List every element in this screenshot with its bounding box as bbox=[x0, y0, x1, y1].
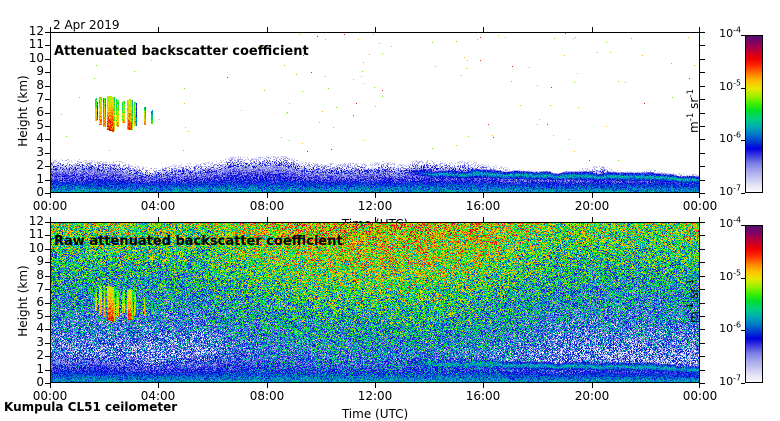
panel2-x-tick-label: 16:00 bbox=[453, 389, 513, 403]
panel2-colorbar-tick-label: 10-5 bbox=[701, 270, 741, 283]
panel1-x-tick-top bbox=[483, 27, 484, 32]
panel2-y-tick bbox=[45, 276, 50, 277]
panel1-y-tick-right bbox=[700, 166, 705, 167]
panel2-y-tick-right bbox=[700, 343, 705, 344]
panel2-y-tick-label: 10 bbox=[16, 241, 44, 255]
panel1-x-tick bbox=[699, 193, 700, 198]
panel1-y-tick-label: 10 bbox=[16, 51, 44, 65]
panel1-y-tick bbox=[45, 166, 50, 167]
panel1-y-tick-label: 1 bbox=[16, 172, 44, 186]
panel2-colorbar-tick bbox=[741, 383, 745, 384]
panel1-y-tick bbox=[45, 45, 50, 46]
panel2-x-axis-label: Time (UTC) bbox=[335, 407, 415, 421]
panel2-y-tick-right bbox=[700, 289, 705, 290]
panel1-x-tick-label: 04:00 bbox=[128, 199, 188, 213]
panel2-y-tick-label: 3 bbox=[16, 335, 44, 349]
panel1-colorbar-tick bbox=[741, 35, 745, 36]
panel2-x-tick bbox=[699, 383, 700, 388]
panel2-y-tick-label: 4 bbox=[16, 321, 44, 335]
panel1-x-tick-label: 16:00 bbox=[453, 199, 513, 213]
panel2-x-tick-label: 08:00 bbox=[237, 389, 297, 403]
panel1-y-tick bbox=[45, 113, 50, 114]
panel1-y-tick-right bbox=[700, 180, 705, 181]
panel1-x-tick-top bbox=[158, 27, 159, 32]
panel2-y-tick bbox=[45, 370, 50, 371]
panel1-y-tick-right bbox=[700, 99, 705, 100]
panel2-colorbar-tick bbox=[741, 225, 745, 226]
panel2-y-tick-label: 2 bbox=[16, 348, 44, 362]
panel2-title: Raw attenuated backscatter coefficient bbox=[54, 234, 343, 249]
panel2-y-tick-right bbox=[700, 356, 705, 357]
panel1-colorbar-tick-label: 10-4 bbox=[701, 27, 741, 40]
panel1-y-tick-label: 4 bbox=[16, 131, 44, 145]
panel2-x-tick-top bbox=[592, 217, 593, 222]
panel2-x-tick-label: 04:00 bbox=[128, 389, 188, 403]
ceilometer-figure: 2 Apr 2019 Height (km) Attenuated backsc… bbox=[0, 0, 780, 420]
panel2-x-tick-label: 12:00 bbox=[345, 389, 405, 403]
panel2-y-tick bbox=[45, 329, 50, 330]
panel2-x-tick bbox=[375, 383, 376, 388]
panel1-colorbar-tick-label: 10-6 bbox=[701, 132, 741, 145]
panel1-x-tick-top bbox=[699, 27, 700, 32]
panel1-x-tick-label: 20:00 bbox=[562, 199, 622, 213]
panel1-colorbar-tick bbox=[741, 193, 745, 194]
panel1-y-tick-right bbox=[700, 72, 705, 73]
panel2-colorbar-tick bbox=[741, 330, 745, 331]
panel2-y-tick-right bbox=[700, 249, 705, 250]
panel1-colorbar-tick bbox=[741, 88, 745, 89]
panel2-x-tick-top bbox=[483, 217, 484, 222]
panel1-x-tick-label: 12:00 bbox=[345, 199, 405, 213]
panel2-y-tick-right bbox=[700, 316, 705, 317]
panel1-y-tick-label: 12 bbox=[16, 24, 44, 38]
panel2-x-tick bbox=[592, 383, 593, 388]
panel2-x-tick-top bbox=[267, 217, 268, 222]
panel1-y-tick-label: 5 bbox=[16, 118, 44, 132]
panel2-y-tick bbox=[45, 249, 50, 250]
panel1-y-tick-right bbox=[700, 113, 705, 114]
panel2-y-tick-label: 9 bbox=[16, 254, 44, 268]
panel1-y-tick bbox=[45, 59, 50, 60]
panel1-y-tick bbox=[45, 86, 50, 87]
panel1-y-tick-label: 11 bbox=[16, 37, 44, 51]
panel2-x-tick-top bbox=[50, 217, 51, 222]
panel2-x-tick-top bbox=[699, 217, 700, 222]
panel2-x-tick-top bbox=[375, 217, 376, 222]
panel2-colorbar-tick bbox=[741, 278, 745, 279]
date-label: 2 Apr 2019 bbox=[53, 18, 120, 32]
panel2-x-tick-label: 20:00 bbox=[562, 389, 622, 403]
panel1-colorbar-unit-label: m-1 sr-1 bbox=[687, 66, 701, 156]
panel1-x-tick-label: 00:00 bbox=[670, 199, 730, 213]
panel1-x-tick bbox=[50, 193, 51, 198]
panel2-y-tick bbox=[45, 222, 50, 223]
panel2-x-tick bbox=[50, 383, 51, 388]
panel2-y-tick-label: 7 bbox=[16, 281, 44, 295]
panel1-y-tick-right bbox=[700, 45, 705, 46]
panel2-x-tick-top bbox=[158, 217, 159, 222]
panel1-y-tick bbox=[45, 32, 50, 33]
panel2-colorbar-tick-label: 10-6 bbox=[701, 322, 741, 335]
panel2-colorbar-unit-label: m-1 sr-1 bbox=[687, 256, 701, 346]
panel1-y-tick-right bbox=[700, 126, 705, 127]
panel2-y-tick bbox=[45, 343, 50, 344]
panel1-y-tick-label: 2 bbox=[16, 158, 44, 172]
panel1-colorbar bbox=[745, 35, 763, 193]
panel2-y-tick-label: 12 bbox=[16, 214, 44, 228]
panel1-x-tick bbox=[483, 193, 484, 198]
panel1-y-tick-label: 9 bbox=[16, 64, 44, 78]
panel2-y-tick bbox=[45, 235, 50, 236]
panel2-y-tick-label: 1 bbox=[16, 362, 44, 376]
panel2-y-tick bbox=[45, 356, 50, 357]
panel1-x-tick bbox=[375, 193, 376, 198]
panel1-y-tick-label: 6 bbox=[16, 105, 44, 119]
panel1-y-tick bbox=[45, 180, 50, 181]
panel1-x-tick-label: 08:00 bbox=[237, 199, 297, 213]
panel2-y-tick-label: 5 bbox=[16, 308, 44, 322]
panel1-y-tick-label: 0 bbox=[16, 185, 44, 199]
panel2-x-tick bbox=[267, 383, 268, 388]
panel2-y-tick bbox=[45, 316, 50, 317]
panel2-x-tick bbox=[158, 383, 159, 388]
panel2-y-tick-label: 8 bbox=[16, 268, 44, 282]
panel1-title: Attenuated backscatter coefficient bbox=[54, 44, 309, 59]
panel1-x-tick-top bbox=[592, 27, 593, 32]
panel1-x-tick-top bbox=[267, 27, 268, 32]
panel2-y-tick-right bbox=[700, 235, 705, 236]
panel1-colorbar-tick-label: 10-7 bbox=[701, 185, 741, 198]
panel1-y-tick bbox=[45, 72, 50, 73]
panel2-colorbar bbox=[745, 225, 763, 383]
panel1-y-tick bbox=[45, 99, 50, 100]
panel2-y-tick-label: 6 bbox=[16, 295, 44, 309]
panel2-x-tick-label: 00:00 bbox=[670, 389, 730, 403]
panel2-colorbar-tick-label: 10-4 bbox=[701, 217, 741, 230]
panel2-colorbar-tick-label: 10-7 bbox=[701, 375, 741, 388]
panel1-y-tick-right bbox=[700, 59, 705, 60]
panel1-y-tick-label: 8 bbox=[16, 78, 44, 92]
panel1-y-tick-right bbox=[700, 153, 705, 154]
panel1-colorbar-tick bbox=[741, 140, 745, 141]
panel1-x-tick bbox=[267, 193, 268, 198]
panel2-x-tick bbox=[483, 383, 484, 388]
panel2-y-tick-label: 11 bbox=[16, 227, 44, 241]
panel2-y-tick bbox=[45, 303, 50, 304]
panel2-y-tick-right bbox=[700, 303, 705, 304]
panel1-y-tick bbox=[45, 126, 50, 127]
panel1-y-tick bbox=[45, 153, 50, 154]
panel2-y-tick-label: 0 bbox=[16, 375, 44, 389]
panel1-y-tick-label: 3 bbox=[16, 145, 44, 159]
panel2-y-tick bbox=[45, 289, 50, 290]
panel2-x-tick-label: 00:00 bbox=[20, 389, 80, 403]
panel1-y-tick-label: 7 bbox=[16, 91, 44, 105]
panel2-y-tick-right bbox=[700, 262, 705, 263]
panel1-x-tick-top bbox=[375, 27, 376, 32]
panel1-x-tick bbox=[158, 193, 159, 198]
panel2-y-tick-right bbox=[700, 370, 705, 371]
panel1-x-tick-label: 00:00 bbox=[20, 199, 80, 213]
panel1-x-tick bbox=[592, 193, 593, 198]
panel1-y-tick bbox=[45, 139, 50, 140]
panel1-x-tick-top bbox=[50, 27, 51, 32]
panel2-y-tick bbox=[45, 262, 50, 263]
panel1-colorbar-tick-label: 10-5 bbox=[701, 80, 741, 93]
